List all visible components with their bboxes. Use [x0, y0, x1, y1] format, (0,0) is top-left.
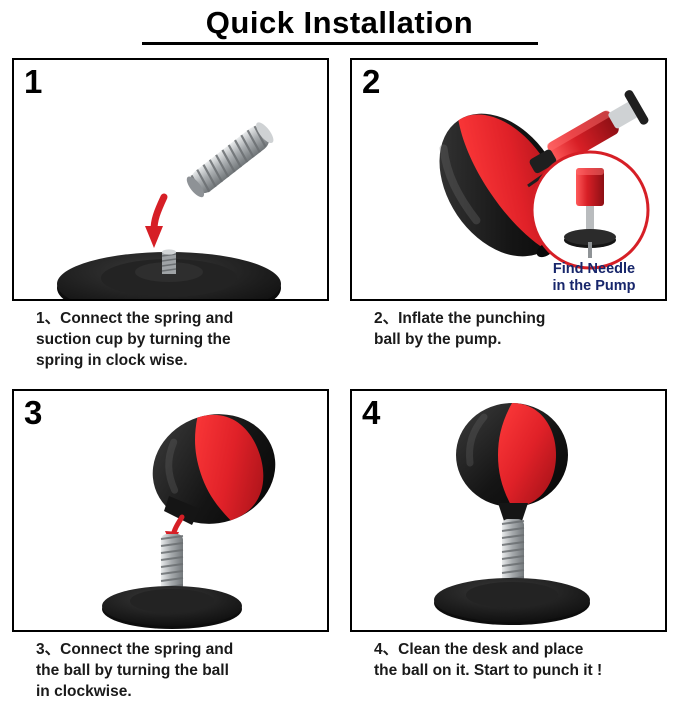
step-caption-4: 4、Clean the desk and place the ball on i…: [350, 639, 667, 681]
step-cell-3: 3: [12, 389, 329, 702]
step-caption-3: 3、Connect the spring and the ball by tur…: [12, 639, 329, 702]
step-cell-2: 2: [350, 58, 667, 371]
step-panel-4: 4: [350, 389, 667, 632]
instruction-sheet: Quick Installation 1: [0, 0, 679, 705]
illustration-assembled-punching-ball: [352, 391, 665, 630]
step-caption-1: 1、Connect the spring and suction cup by …: [12, 308, 329, 371]
page-title: Quick Installation: [142, 0, 538, 45]
step-cell-1: 1: [12, 58, 329, 371]
step-caption-2: 2、Inflate the punching ball by the pump.: [350, 308, 667, 350]
illustration-ball-onto-spring: [14, 391, 327, 630]
step-panel-2: 2: [350, 58, 667, 301]
step-panel-3: 3: [12, 389, 329, 632]
steps-grid: 1: [12, 58, 667, 702]
step-panel-1: 1: [12, 58, 329, 301]
pump-needle-note: Find Needle in the Pump: [531, 261, 657, 295]
illustration-spring-and-suction-cup: [14, 60, 327, 299]
step-cell-4: 4: [350, 389, 667, 702]
